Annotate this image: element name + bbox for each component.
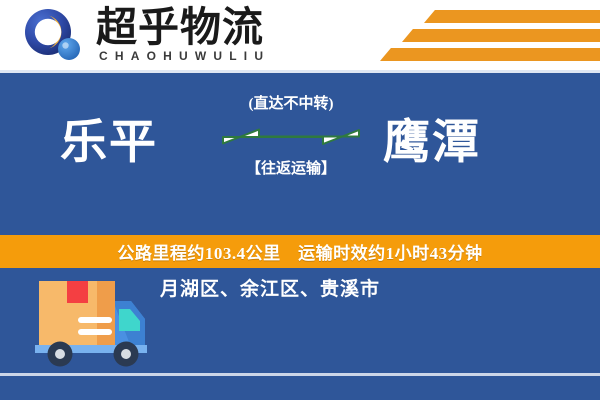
route-info-bar: 公路里程约103.4公里 运输时效约1小时43分钟	[0, 235, 600, 268]
route-middle: (直达不中转) 【往返运输】	[215, 95, 367, 215]
route-band: 乐平 (直达不中转) 【往返运输】 鹰潭	[0, 73, 600, 235]
stripe-2	[402, 29, 600, 42]
bidirectional-arrow-icon	[215, 121, 367, 153]
logistics-route-poster: 超乎物流 CHAOHUWULIU 乐平 (直达不中转) 【往返运输】 鹰潭 公路…	[0, 0, 600, 400]
stripe-3	[380, 48, 600, 61]
chaohu-circle-logo-icon	[23, 8, 85, 62]
stripe-1	[424, 10, 600, 23]
direct-route-badge: (直达不中转)	[215, 95, 367, 113]
brand-name: 超乎物流	[96, 6, 264, 48]
poster-header: 超乎物流 CHAOHUWULIU	[0, 0, 600, 70]
coverage-areas-text: 月湖区、余江区、贵溪市	[160, 278, 380, 302]
delivery-truck-icon	[27, 275, 162, 370]
origin-city: 乐平	[60, 113, 158, 173]
distance-and-duration-text: 公路里程约103.4公里 运输时效约1小时43分钟	[117, 239, 482, 264]
round-trip-badge: 【往返运输】	[215, 160, 367, 178]
bottom-divider	[0, 373, 600, 376]
coverage-band: 月湖区、余江区、贵溪市	[0, 268, 600, 400]
header-stripes-decoration	[340, 0, 600, 70]
brand-pinyin: CHAOHUWULIU	[99, 50, 270, 63]
destination-city: 鹰潭	[383, 113, 481, 173]
